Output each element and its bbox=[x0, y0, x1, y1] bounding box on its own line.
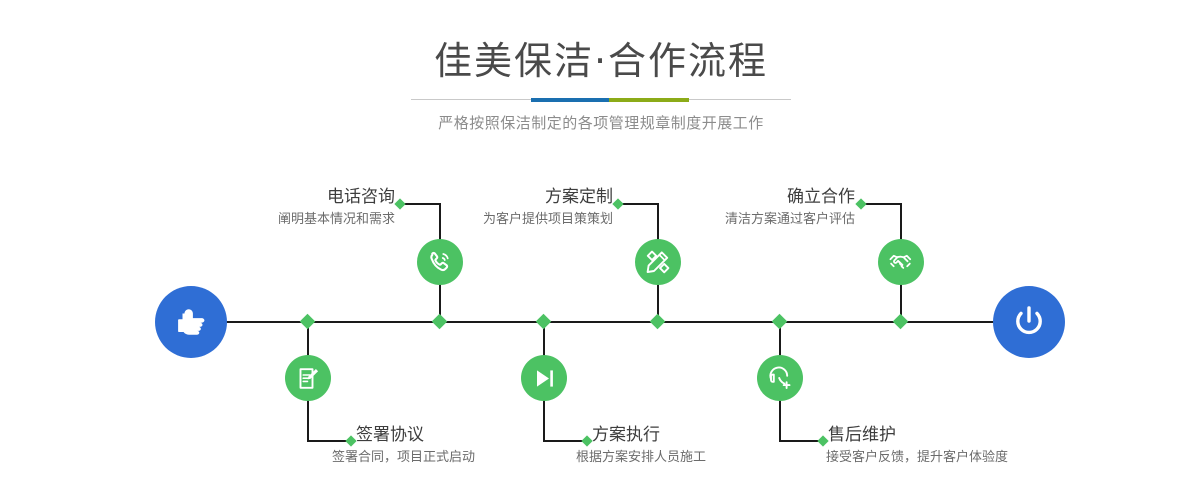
step-label-6: 确立合作 清洁方案通过客户评估 bbox=[610, 186, 855, 230]
step-node-6[interactable] bbox=[878, 239, 924, 285]
step-label-1: 电话咨询 阐明基本情况和需求 bbox=[150, 186, 395, 230]
pencil-ruler-icon bbox=[645, 249, 671, 275]
step-desc-1: 阐明基本情况和需求 bbox=[150, 208, 395, 230]
step-node-4[interactable] bbox=[521, 355, 567, 401]
step-title-2: 签署协议 bbox=[356, 424, 616, 446]
phone-call-icon bbox=[427, 249, 453, 275]
step-desc-6: 清洁方案通过客户评估 bbox=[610, 208, 855, 230]
step-title-3: 方案定制 bbox=[368, 186, 613, 208]
step-node-3[interactable] bbox=[635, 239, 681, 285]
handshake-icon bbox=[888, 249, 914, 275]
step-desc-3: 为客户提供项目策策划 bbox=[368, 208, 613, 230]
timeline-marker-step-2 bbox=[300, 314, 316, 330]
timeline-marker-step-5 bbox=[772, 314, 788, 330]
step-desc-2: 签署合同，项目正式启动 bbox=[332, 446, 616, 468]
timeline-marker-step-4 bbox=[536, 314, 552, 330]
step-title-1: 电话咨询 bbox=[150, 186, 395, 208]
timeline-marker-step-6 bbox=[893, 314, 909, 330]
step-node-5[interactable] bbox=[757, 355, 803, 401]
timeline-marker-step-3 bbox=[650, 314, 666, 330]
step-node-1[interactable] bbox=[417, 239, 463, 285]
power-button-icon bbox=[1008, 301, 1050, 343]
step-title-4: 方案执行 bbox=[592, 424, 852, 446]
step-title-5: 售后维护 bbox=[828, 424, 1108, 446]
step-title-6: 确立合作 bbox=[610, 186, 855, 208]
document-edit-icon bbox=[296, 366, 321, 391]
timeline-marker-step-1 bbox=[432, 314, 448, 330]
pointing-hand-icon bbox=[171, 302, 211, 342]
step-label-3: 方案定制 为客户提供项目策策划 bbox=[368, 186, 613, 230]
step-label-5: 售后维护 接受客户反馈，提升客户体验度 bbox=[828, 424, 1108, 468]
step-desc-5: 接受客户反馈，提升客户体验度 bbox=[826, 446, 1108, 468]
leader-dot-step-6 bbox=[855, 198, 866, 209]
timeline: 电话咨询 阐明基本情况和需求 签署协议 签署合同，项目正式启动 bbox=[0, 0, 1202, 502]
step-desc-4: 根据方案安排人员施工 bbox=[576, 446, 852, 468]
timeline-finish-node[interactable] bbox=[993, 286, 1065, 358]
process-flow-infographic: 佳美保洁·合作流程 严格按照保洁制定的各项管理规章制度开展工作 bbox=[0, 0, 1202, 502]
customer-service-icon bbox=[767, 365, 793, 391]
step-label-4: 方案执行 根据方案安排人员施工 bbox=[592, 424, 852, 468]
leader-dot-step-2 bbox=[345, 435, 356, 446]
play-next-icon bbox=[532, 366, 557, 391]
step-node-2[interactable] bbox=[285, 355, 331, 401]
timeline-start-node[interactable] bbox=[155, 286, 227, 358]
